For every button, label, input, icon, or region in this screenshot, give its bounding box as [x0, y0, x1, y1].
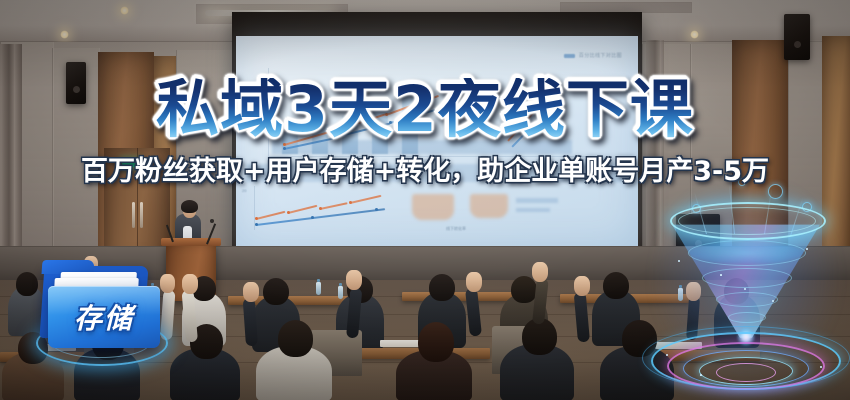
slide-axis-x — [268, 156, 598, 157]
holographic-funnel-icon — [642, 178, 850, 400]
slide-axis-y — [268, 68, 269, 156]
slide-legend: 百分比线下对比图 — [564, 52, 622, 59]
attendee-head — [429, 274, 455, 301]
raised-hand — [346, 270, 362, 290]
folder-label: 存储 — [48, 286, 160, 348]
storage-folder-badge: 存储 — [30, 258, 170, 366]
raised-hand — [574, 276, 590, 296]
raised-hand — [243, 282, 259, 302]
attendee-head — [511, 276, 537, 303]
microphone-head — [210, 219, 214, 223]
presenter-hair — [181, 200, 198, 213]
attendee-head — [603, 272, 629, 299]
wall-speaker — [784, 14, 810, 60]
ceiling-spotlight — [60, 30, 69, 39]
wall-speaker — [66, 62, 86, 104]
exit-sign — [122, 160, 138, 167]
attendee-head — [263, 278, 289, 305]
raised-hand — [182, 274, 198, 294]
course-promo-banner: 百分比线下对比图 20 0 — [0, 0, 850, 400]
attendee-head — [278, 320, 313, 357]
raised-hand — [532, 262, 548, 282]
raised-hand — [466, 272, 482, 292]
projection-screen: 百分比线下对比图 20 0 — [236, 36, 638, 248]
attendee-head — [418, 322, 454, 362]
ceiling-spotlight — [690, 30, 699, 39]
legend-label: 百分比线下对比图 — [579, 52, 622, 59]
water-bottle — [338, 286, 343, 299]
ceiling-spotlight — [120, 6, 129, 15]
legend-swatch — [564, 54, 575, 58]
water-bottle — [316, 282, 321, 295]
